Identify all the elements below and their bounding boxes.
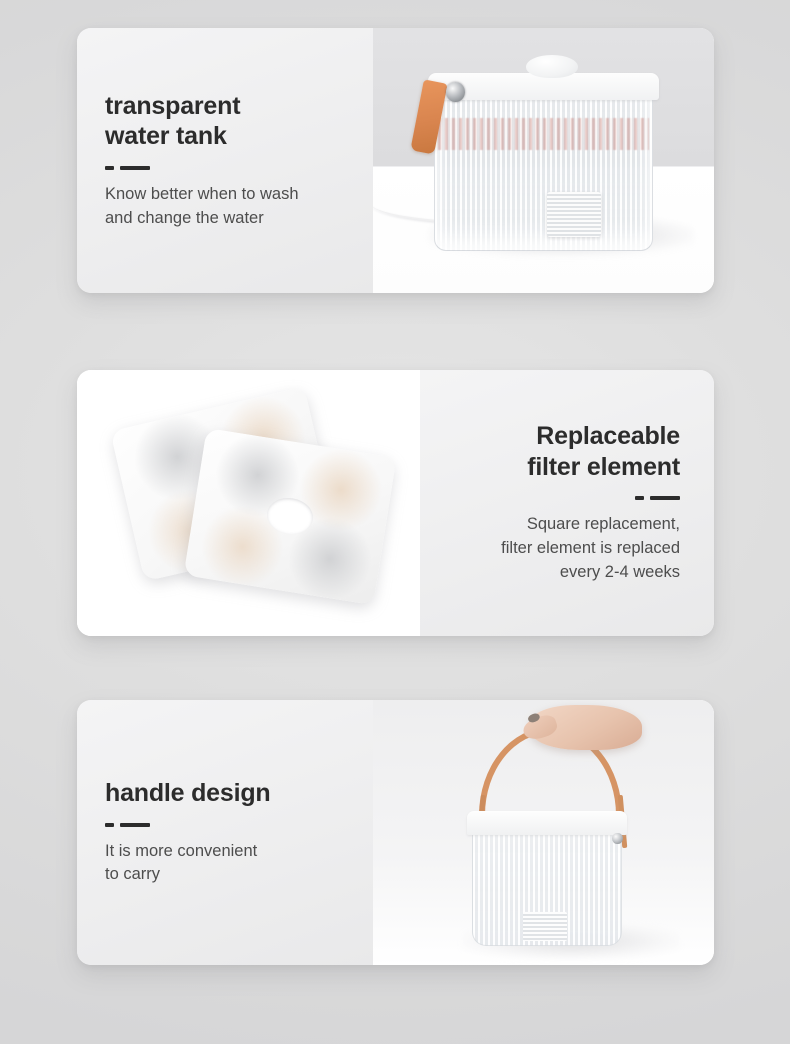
dash-short-icon [635,496,644,500]
product-photo-scene [373,700,714,965]
filter-pad-front [183,428,396,605]
dash-short-icon [105,166,114,170]
tank-pump [547,192,602,237]
card-text-panel: Replaceable filter element Square replac… [420,370,714,636]
fountain-lid [467,811,627,835]
divider-dashes [105,823,150,827]
product-photo-scene [77,370,420,636]
card-photo-filter-element [77,370,420,636]
feature-card-replaceable-filter-element: Replaceable filter element Square replac… [77,370,714,636]
card-headline: transparent water tank [105,91,240,152]
tank-knob [526,55,577,79]
card-headline: Replaceable filter element [527,421,680,482]
card-text-panel: handle design It is more convenient to c… [77,700,373,965]
fountain-pump [523,912,567,941]
dash-short-icon [105,823,114,827]
dash-long-icon [120,823,150,827]
tank-body [434,86,652,250]
product-photo-scene [373,28,714,293]
card-photo-handle-design [373,700,714,965]
feature-card-handle-design: handle design It is more convenient to c… [77,700,714,965]
card-subline: Square replacement, filter element is re… [501,513,680,584]
feature-card-transparent-water-tank: transparent water tank Know better when … [77,28,714,293]
dash-long-icon [120,166,150,170]
card-photo-water-tank [373,28,714,293]
card-headline: handle design [105,778,270,809]
card-subline: Know better when to wash and change the … [105,183,299,231]
card-subline: It is more convenient to carry [105,840,257,888]
metal-button-icon [612,833,623,845]
dash-long-icon [650,496,680,500]
divider-dashes [635,496,680,500]
divider-dashes [105,166,150,170]
card-text-panel: transparent water tank Know better when … [77,28,373,293]
tank-waterline [438,118,649,150]
